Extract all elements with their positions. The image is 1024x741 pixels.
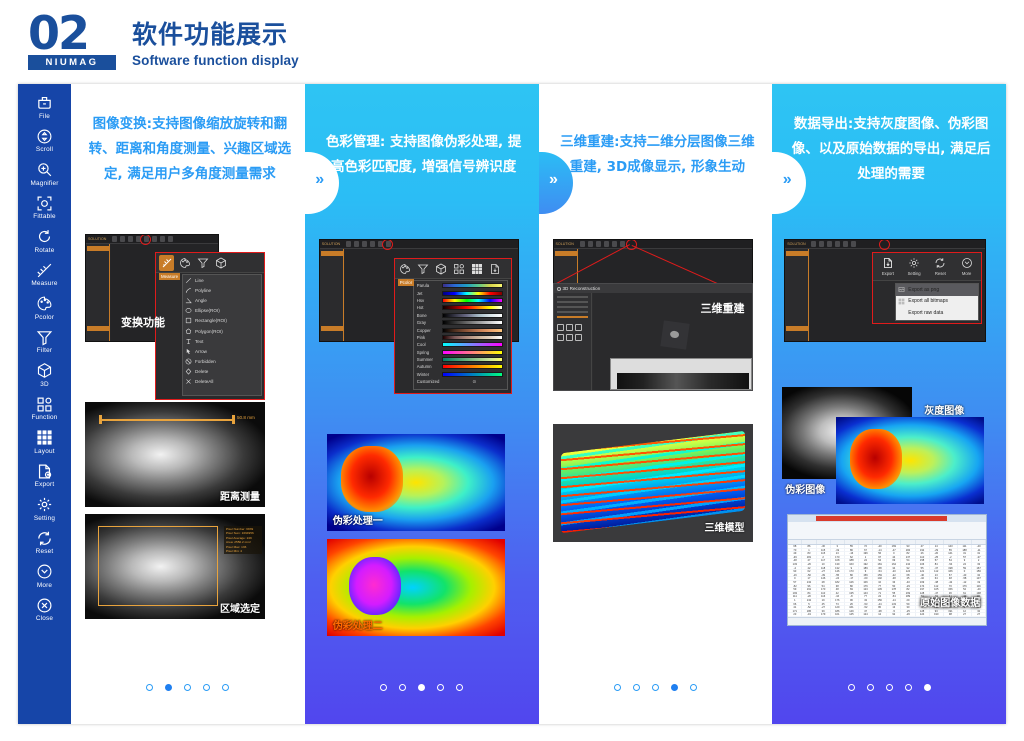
palette-row[interactable]: Copper xyxy=(414,326,507,333)
pagination-dot[interactable] xyxy=(633,684,640,691)
panel-color-management: » 色彩管理: 支持图像伪彩处理, 提高色彩匹配度, 增强信号辨识度 SOLUT… xyxy=(305,84,539,724)
palette-gradient xyxy=(442,298,503,303)
pagination-dot-active[interactable] xyxy=(418,684,425,691)
app-titlebar: SOLUTION xyxy=(320,240,518,249)
palette-icon[interactable] xyxy=(177,255,192,271)
rail-highlight xyxy=(786,251,808,256)
feature-panels: 图像变换:支持图像缩放旋转和翻转、距离和角度测量、兴趣区域选定, 满足用户多角度… xyxy=(71,84,1006,724)
dialog-icon xyxy=(557,287,561,291)
image-label: 伪彩处理一 xyxy=(333,512,383,527)
palette-gradient xyxy=(442,283,503,288)
highlight-ring xyxy=(382,239,393,250)
app-window-title: SOLUTION xyxy=(556,242,574,246)
sidebar-item-label: Filter xyxy=(37,347,52,354)
slider-track[interactable] xyxy=(557,311,588,313)
pagination-dot[interactable] xyxy=(399,684,406,691)
slide-root: 02 NIUMAG 软件功能展示 Software function displ… xyxy=(0,0,1024,741)
sidebar-item-label: Setting xyxy=(34,515,55,522)
menu-item[interactable]: Delete xyxy=(183,367,261,377)
tool-button[interactable] xyxy=(566,324,573,331)
toolbar-button[interactable] xyxy=(819,241,824,247)
pagination-dot-active[interactable] xyxy=(165,684,172,691)
menu-item[interactable]: Export raw data xyxy=(896,307,978,319)
fittable-icon xyxy=(36,195,53,212)
sidebar-item-export[interactable]: Export xyxy=(18,459,71,493)
toolbar-button[interactable] xyxy=(580,241,585,247)
excel-column-header[interactable] xyxy=(930,540,944,544)
palette-name: Bone xyxy=(414,313,442,318)
reset-icon xyxy=(933,255,948,271)
palette-gradient xyxy=(442,357,503,362)
menu-item[interactable]: Ellipse(ROI) xyxy=(183,306,261,316)
rail-highlight xyxy=(87,326,109,331)
pagination-dot[interactable] xyxy=(184,684,191,691)
toolbar-button[interactable] xyxy=(835,241,840,247)
panel-1-title: 图像变换:支持图像缩放旋转和翻转、距离和角度测量、兴趣区域选定, 满足用户多角度… xyxy=(87,112,293,187)
slider-track[interactable] xyxy=(557,316,588,318)
menu-item-label: Text xyxy=(195,339,203,344)
callout-measure-menu: Measure LinePolylineAngleEllipse(ROI)Rec… xyxy=(155,252,265,400)
sidebar-item-pcolor[interactable]: Pcolor xyxy=(18,291,71,325)
menu-item[interactable]: Text xyxy=(183,336,261,346)
scroll-icon xyxy=(36,128,53,145)
close-icon xyxy=(36,597,53,614)
measure-endpoint xyxy=(99,415,102,424)
panel-3d-reconstruction: » 三维重建:支持二维分层图像三维重建, 3D成像显示, 形象生动 SOLUTI… xyxy=(539,84,773,724)
palette-name: Spring xyxy=(414,350,442,355)
panel-3-title: 三维重建:支持二维分层图像三维重建, 3D成像显示, 形象生动 xyxy=(555,130,761,180)
pagination-dot[interactable] xyxy=(848,684,855,691)
menu-item-label: Line xyxy=(195,278,204,283)
sidebar-item-function[interactable]: Function xyxy=(18,392,71,426)
pagination-dot[interactable] xyxy=(905,684,912,691)
sidebar-item-label: Magnifier xyxy=(30,180,58,187)
text-icon xyxy=(185,338,192,345)
palette-row[interactable]: Hot xyxy=(414,304,507,311)
toolbar-button[interactable] xyxy=(604,241,609,247)
image-roi-select: Pixel Number: 6839Pixel Sum: 1694956Pixe… xyxy=(85,514,265,619)
brand-logo: 02 NIUMAG 软件功能展示 Software function displ… xyxy=(28,12,299,70)
palette-row[interactable]: Summer xyxy=(414,356,507,363)
excel-ribbon[interactable] xyxy=(788,522,986,540)
sidebar-item-scroll[interactable]: Scroll xyxy=(18,124,71,158)
palette-name: Jet xyxy=(414,291,442,296)
excel-statusbar xyxy=(788,617,986,625)
highlight-ring xyxy=(140,234,151,245)
tool-button[interactable] xyxy=(575,334,582,341)
menu-item[interactable]: DeleteAll xyxy=(183,377,261,387)
sidebar-item-label: Export xyxy=(35,481,55,488)
polygonroi-icon xyxy=(185,328,192,335)
logo-title-block: 软件功能展示 Software function display xyxy=(132,15,299,68)
palette-gradient xyxy=(442,364,503,369)
measure-line xyxy=(101,419,233,421)
sidebar-item-label: Layout xyxy=(34,448,54,455)
filter-icon[interactable] xyxy=(416,261,431,277)
palette-row[interactable]: Cool xyxy=(414,341,507,348)
image-pcolor-hsv: 伪彩处理二 xyxy=(327,539,505,636)
menu-item-label: Polygon(ROI) xyxy=(195,329,223,334)
toolbar-button[interactable] xyxy=(120,236,125,242)
sidebar: FileScrollMagnifierFittableRotateMeasure… xyxy=(18,84,71,724)
dialog-controls-pane[interactable] xyxy=(554,293,592,390)
palette-gradient xyxy=(442,305,503,310)
export-toolbar-item[interactable]: Export xyxy=(876,255,899,276)
toolbar-label: More xyxy=(962,271,972,276)
measure-dropdown-menu[interactable]: LinePolylineAngleEllipse(ROI)Rectangle(R… xyxy=(182,274,262,396)
image-distance-measure: 50.8 mm 距离测量 xyxy=(85,402,265,507)
toolbar-button[interactable] xyxy=(112,236,117,242)
menu-item[interactable]: Export as png xyxy=(896,284,978,296)
pagination-dot[interactable] xyxy=(146,684,153,691)
menu-item-label: Angle xyxy=(195,298,207,303)
image-3d-model: 三维模型 xyxy=(553,424,753,542)
export-icon[interactable] xyxy=(488,261,503,277)
toolbar-button[interactable] xyxy=(596,241,601,247)
panel-notch-left: » xyxy=(772,152,806,214)
page-subtitle: Software function display xyxy=(132,53,299,68)
palette-gradient xyxy=(442,335,503,340)
palette-name: Autumn xyxy=(414,364,442,369)
toolbar-button[interactable] xyxy=(128,236,133,242)
pagination-dot-active[interactable] xyxy=(924,684,931,691)
menu-item[interactable]: Polyline xyxy=(183,285,261,295)
palette-gradient xyxy=(442,342,503,347)
menu-item-label: Polyline xyxy=(195,288,211,293)
more-icon xyxy=(959,255,974,271)
sidebar-item-setting[interactable]: Setting xyxy=(18,492,71,526)
tool-button[interactable] xyxy=(557,334,564,341)
3d-slice-strip xyxy=(610,358,752,390)
image-label-raw-data: 原始图像数据 xyxy=(920,594,980,609)
palette-name: Parula xyxy=(414,283,442,288)
pagination-dot[interactable] xyxy=(867,684,874,691)
rail-highlight xyxy=(555,251,577,256)
rail-highlight xyxy=(87,246,109,251)
toolbar-label: Reset xyxy=(935,271,946,276)
sidebar-item-label: More xyxy=(37,582,52,589)
image-label: 三维模型 xyxy=(705,519,745,534)
palette-name: Cool xyxy=(414,342,442,347)
excel-column-header[interactable] xyxy=(802,540,816,544)
image-label: 伪彩处理二 xyxy=(333,617,383,632)
page-header: 02 NIUMAG 软件功能展示 Software function displ… xyxy=(0,0,1024,76)
excel-title-accent xyxy=(816,516,947,521)
palette-gradient xyxy=(442,320,503,325)
dialog-title: 3D Reconstruction xyxy=(563,286,601,291)
pagination-dot[interactable] xyxy=(886,684,893,691)
toolbar-button[interactable] xyxy=(827,241,832,247)
slider-track[interactable] xyxy=(557,296,588,298)
menu-item-label: Export raw data xyxy=(908,310,943,316)
sidebar-item-label: File xyxy=(39,113,50,120)
palette-row[interactable]: Gray xyxy=(414,319,507,326)
export-dropdown-menu[interactable]: Export as pngExport all bitmapsExport ra… xyxy=(895,283,979,321)
reset-toolbar-item[interactable]: Reset xyxy=(929,255,952,276)
pagination-dot[interactable] xyxy=(437,684,444,691)
measure-icon[interactable] xyxy=(159,255,174,271)
callout-toolbar xyxy=(395,259,511,279)
roi-stat-line: Pixel Min: 4 xyxy=(226,549,260,553)
palette-name: Hsv xyxy=(414,298,442,303)
pagination-dot[interactable] xyxy=(222,684,229,691)
tool-button[interactable] xyxy=(575,324,582,331)
excel-column-header[interactable] xyxy=(831,540,845,544)
menu-item[interactable]: Export all bitmaps xyxy=(896,296,978,308)
toolbar-button[interactable] xyxy=(354,241,359,247)
app-window-title: SOLUTION xyxy=(322,242,340,246)
ellipseroi-icon xyxy=(185,307,192,314)
cube-icon xyxy=(36,362,53,379)
toolbar-button[interactable] xyxy=(370,241,375,247)
more-toolbar-item[interactable]: More xyxy=(955,255,978,276)
app-window-title: SOLUTION xyxy=(787,242,805,246)
measure-value: 50.8 mm xyxy=(237,415,255,420)
sidebar-item-label: Function xyxy=(31,414,57,421)
tool-button[interactable] xyxy=(566,334,573,341)
app-titlebar: SOLUTION xyxy=(554,240,752,249)
filter-icon[interactable] xyxy=(195,255,210,271)
polyline-icon xyxy=(185,287,192,294)
palette-icon[interactable] xyxy=(398,261,413,277)
function-icon[interactable] xyxy=(452,261,467,277)
dialog-3d-reconstruction: 3D Reconstruction xyxy=(553,283,753,391)
pagination-dot[interactable] xyxy=(690,684,697,691)
sidebar-item-3d[interactable]: 3D xyxy=(18,358,71,392)
palette-gradient xyxy=(442,291,503,296)
arrow-icon xyxy=(185,348,192,355)
palette-row[interactable]: Customized⊙ xyxy=(414,378,507,385)
gear-icon xyxy=(907,255,922,271)
menu-item-label: DeleteAll xyxy=(195,379,213,384)
hotspot xyxy=(850,429,902,489)
rotate-icon xyxy=(36,228,53,245)
toolbar-label: Setting xyxy=(908,271,921,276)
toolbar-button[interactable] xyxy=(612,241,617,247)
hotspot xyxy=(341,446,403,512)
app-titlebar: SOLUTION xyxy=(86,235,218,244)
callout-active-tool-label: Pcolor xyxy=(398,279,414,286)
menu-item-label: Export all bitmaps xyxy=(908,298,948,304)
image-raw-data-excel: 6886-3035572-40169934714143111-40701115-… xyxy=(787,514,987,626)
pagination-dot[interactable] xyxy=(203,684,210,691)
panel-4-title: 数据导出:支持灰度图像、伪彩图像、以及原始数据的导出, 满足后处理的需要 xyxy=(788,112,994,187)
palette-row[interactable]: Pink xyxy=(414,334,507,341)
app-frame: FileScrollMagnifierFittableRotateMeasure… xyxy=(18,84,1006,724)
palette-row[interactable]: Bone xyxy=(414,312,507,319)
sidebar-item-label: Fittable xyxy=(33,213,56,220)
more-icon xyxy=(36,563,53,580)
toolbar-button[interactable] xyxy=(168,236,173,242)
toolbar-button[interactable] xyxy=(362,241,367,247)
export-as-png-icon xyxy=(898,286,905,293)
palette-row[interactable]: Winter xyxy=(414,371,507,378)
toolbar-button[interactable] xyxy=(588,241,593,247)
image-label: 距离测量 xyxy=(220,488,260,503)
excel-column-header[interactable] xyxy=(788,540,802,544)
sidebar-item-label: Rotate xyxy=(34,247,54,254)
toolbar-button[interactable] xyxy=(843,241,848,247)
sidebar-item-file[interactable]: File xyxy=(18,90,71,124)
palette-gradient xyxy=(442,313,503,318)
rail-highlight xyxy=(321,251,343,256)
callout-toolbar: Export Setting Reset xyxy=(873,253,981,281)
menu-item[interactable]: Forbidden xyxy=(183,357,261,367)
roi-rectangle xyxy=(98,526,218,606)
palette-name: Customized xyxy=(414,379,442,384)
app-left-rail xyxy=(86,244,110,341)
pagination-dots-2[interactable] xyxy=(305,684,539,691)
sidebar-item-close[interactable]: Close xyxy=(18,593,71,627)
image-pseudocolor xyxy=(836,417,984,504)
panel-notch-left: » xyxy=(539,152,573,214)
3d-object xyxy=(661,320,690,349)
toolbar-button[interactable] xyxy=(346,241,351,247)
excel-column-header[interactable] xyxy=(972,540,986,544)
sidebar-item-label: Reset xyxy=(36,548,54,555)
palette-custom-icon[interactable]: ⊙ xyxy=(442,379,507,385)
file-dcm-icon xyxy=(36,94,53,111)
sidebar-item-fittable[interactable]: Fittable xyxy=(18,191,71,225)
callout-toolbar xyxy=(156,253,264,273)
toolbar-label: Export xyxy=(882,271,894,276)
excel-column-header[interactable] xyxy=(817,540,831,544)
menu-item[interactable]: Rectangle(ROI) xyxy=(183,316,261,326)
sidebar-item-label: Pcolor xyxy=(35,314,54,321)
measure-endpoint xyxy=(232,415,235,424)
pagination-dots-4[interactable] xyxy=(772,684,1006,691)
callout-palette-menu: Pcolor ParulaJetHsvHotBoneGrayCopperPink… xyxy=(394,258,512,394)
pagination-dot[interactable] xyxy=(456,684,463,691)
palette-row[interactable]: Spring xyxy=(414,349,507,356)
app-left-rail xyxy=(320,249,344,341)
pagination-dot-active[interactable] xyxy=(671,684,678,691)
pagination-dots-1[interactable] xyxy=(71,684,305,691)
palette-row[interactable]: Autumn xyxy=(414,363,507,370)
angle-icon xyxy=(185,297,192,304)
palette-name: Copper xyxy=(414,328,442,333)
export-icon xyxy=(880,255,895,271)
palette-name: Hot xyxy=(414,305,442,310)
sidebar-item-label: 3D xyxy=(40,381,49,388)
menu-item[interactable]: Angle xyxy=(183,295,261,305)
rail-highlight xyxy=(786,326,808,331)
callout-label-3d: 三维重建 xyxy=(701,300,745,316)
3d-model-surface xyxy=(561,431,745,534)
cube-icon[interactable] xyxy=(213,255,228,271)
callout-label-transform: 变换功能 xyxy=(121,314,165,330)
layout-grid-icon xyxy=(36,429,53,446)
excel-column-header[interactable] xyxy=(916,540,930,544)
excel-column-header[interactable] xyxy=(845,540,859,544)
slider-track[interactable] xyxy=(557,306,588,308)
toolbar-button[interactable] xyxy=(851,241,856,247)
excel-column-header[interactable] xyxy=(901,540,915,544)
magnifier-icon xyxy=(36,161,53,178)
panel-image-transform: 图像变换:支持图像缩放旋转和翻转、距离和角度测量、兴趣区域选定, 满足用户多角度… xyxy=(71,84,305,724)
palette-gradient xyxy=(442,328,503,333)
roi-stats-box: Pixel Number: 6839Pixel Sum: 1694956Pixe… xyxy=(224,526,262,554)
toolbar-button[interactable] xyxy=(152,236,157,242)
menu-item-label: Delete xyxy=(195,369,208,374)
sidebar-item-magnifier[interactable]: Magnifier xyxy=(18,157,71,191)
excel-column-header[interactable] xyxy=(873,540,887,544)
menu-item-label: Rectangle(ROI) xyxy=(195,318,227,323)
excel-column-header[interactable] xyxy=(887,540,901,544)
menu-item-label: Export as png xyxy=(908,287,939,293)
dialog-titlebar: 3D Reconstruction xyxy=(554,284,752,293)
cube-icon[interactable] xyxy=(434,261,449,277)
sidebar-item-label: Measure xyxy=(31,280,57,287)
panel-data-export: » 数据导出:支持灰度图像、伪彩图像、以及原始数据的导出, 满足后处理的需要 S… xyxy=(772,84,1006,724)
forbidden-icon xyxy=(185,358,192,365)
pagination-dot[interactable] xyxy=(614,684,621,691)
callout-export-menu: Export Setting Reset xyxy=(872,252,982,324)
delete-icon xyxy=(185,368,192,375)
sidebar-item-rotate[interactable]: Rotate xyxy=(18,224,71,258)
palette-row[interactable]: Parula xyxy=(414,282,507,289)
sidebar-item-reset[interactable]: Reset xyxy=(18,526,71,560)
panel-2-title: 色彩管理: 支持图像伪彩处理, 提高色彩匹配度, 增强信号辨识度 xyxy=(321,130,527,180)
app-left-rail xyxy=(785,249,809,341)
rectangleroi-icon xyxy=(185,317,192,324)
sidebar-item-label: Scroll xyxy=(36,146,53,153)
panel-notch-left: » xyxy=(305,152,339,214)
tool-button[interactable] xyxy=(557,324,564,331)
app-window-title: SOLUTION xyxy=(88,237,106,241)
pagination-dot[interactable] xyxy=(652,684,659,691)
pagination-dots-3[interactable] xyxy=(539,684,773,691)
pagination-dot[interactable] xyxy=(380,684,387,691)
deleteall-icon xyxy=(185,378,192,385)
menu-item[interactable]: Arrow xyxy=(183,346,261,356)
sidebar-item-layout[interactable]: Layout xyxy=(18,425,71,459)
palette-row[interactable]: Hsv xyxy=(414,297,507,304)
excel-column-header[interactable] xyxy=(958,540,972,544)
menu-item[interactable]: Line xyxy=(183,275,261,285)
toolbar-button[interactable] xyxy=(811,241,816,247)
sidebar-item-filter[interactable]: Filter xyxy=(18,325,71,359)
palette-name: Pink xyxy=(414,335,442,340)
excel-column-header[interactable] xyxy=(859,540,873,544)
callout-active-tool-label: Measure xyxy=(159,273,180,280)
palette-dropdown-menu[interactable]: ParulaJetHsvHotBoneGrayCopperPinkCoolSpr… xyxy=(413,280,508,390)
slider-track[interactable] xyxy=(557,301,588,303)
palette-icon xyxy=(36,295,53,312)
chevron-right-icon: » xyxy=(307,171,331,189)
app-toolbar xyxy=(811,241,856,247)
palette-name: Gray xyxy=(414,320,442,325)
sidebar-item-more[interactable]: More xyxy=(18,559,71,593)
menu-item[interactable]: Polygon(ROI) xyxy=(183,326,261,336)
line-icon xyxy=(185,277,192,284)
setting-toolbar-item[interactable]: Setting xyxy=(903,255,926,276)
sidebar-item-measure[interactable]: Measure xyxy=(18,258,71,292)
image-label: 区域选定 xyxy=(220,600,260,615)
menu-item-label: Ellipse(ROI) xyxy=(195,308,220,313)
image-pcolor-jet: 伪彩处理一 xyxy=(327,434,505,531)
export-raw-data-icon xyxy=(898,309,905,316)
rail-highlight xyxy=(321,326,343,331)
image-label-grayscale: 灰度图像 xyxy=(924,402,964,417)
toolbar-button[interactable] xyxy=(160,236,165,242)
reset-icon xyxy=(36,530,53,547)
excel-titlebar xyxy=(788,515,986,522)
excel-column-header[interactable] xyxy=(944,540,958,544)
hotspot xyxy=(349,557,401,615)
palette-row[interactable]: Jet xyxy=(414,289,507,296)
layout-grid-icon[interactable] xyxy=(470,261,485,277)
